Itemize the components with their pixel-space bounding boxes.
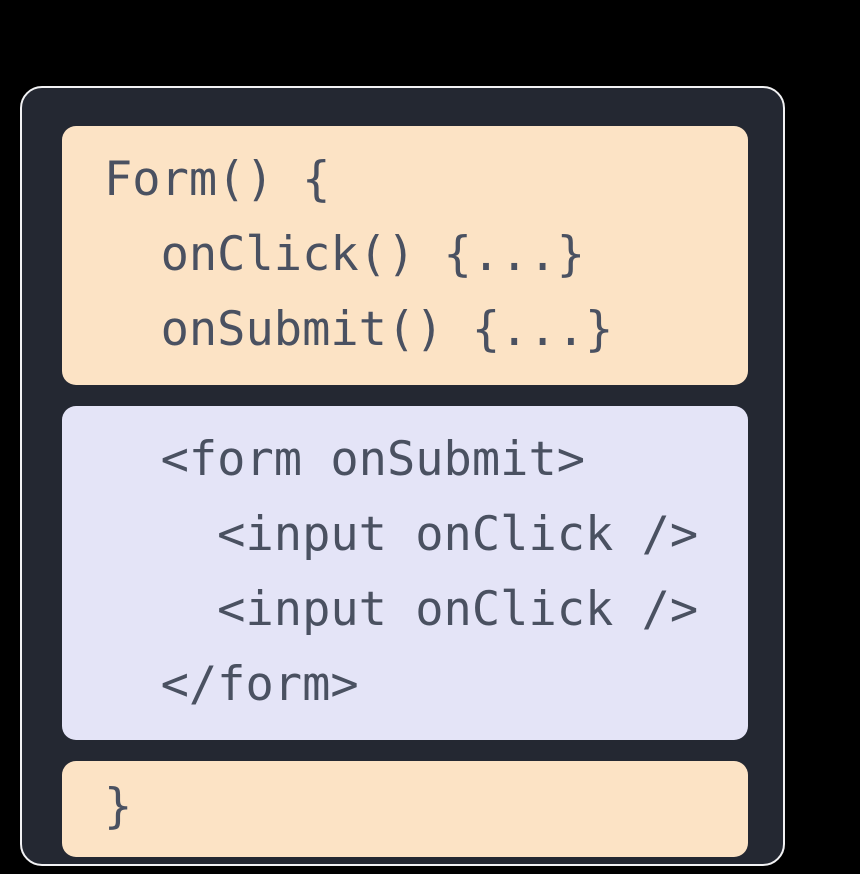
block-spacer <box>62 385 743 406</box>
code-line: onClick() {...} <box>62 217 748 292</box>
code-line: } <box>62 771 748 843</box>
code-line: </form> <box>62 647 748 722</box>
code-block-markup: <form onSubmit> <input onClick /> <input… <box>62 406 748 740</box>
block-spacer <box>62 740 743 761</box>
code-line: <input onClick /> <box>62 497 748 572</box>
canvas: Form() { onClick() {...} onSubmit() {...… <box>0 0 860 874</box>
code-line: <input onClick /> <box>62 572 748 647</box>
code-block-logic-top: Form() { onClick() {...} onSubmit() {...… <box>62 126 748 385</box>
code-line: Form() { <box>62 142 748 217</box>
component-code-card: Form() { onClick() {...} onSubmit() {...… <box>20 86 785 866</box>
code-line: <form onSubmit> <box>62 422 748 497</box>
code-block-logic-bottom: } <box>62 761 748 857</box>
code-line: onSubmit() {...} <box>62 292 748 367</box>
